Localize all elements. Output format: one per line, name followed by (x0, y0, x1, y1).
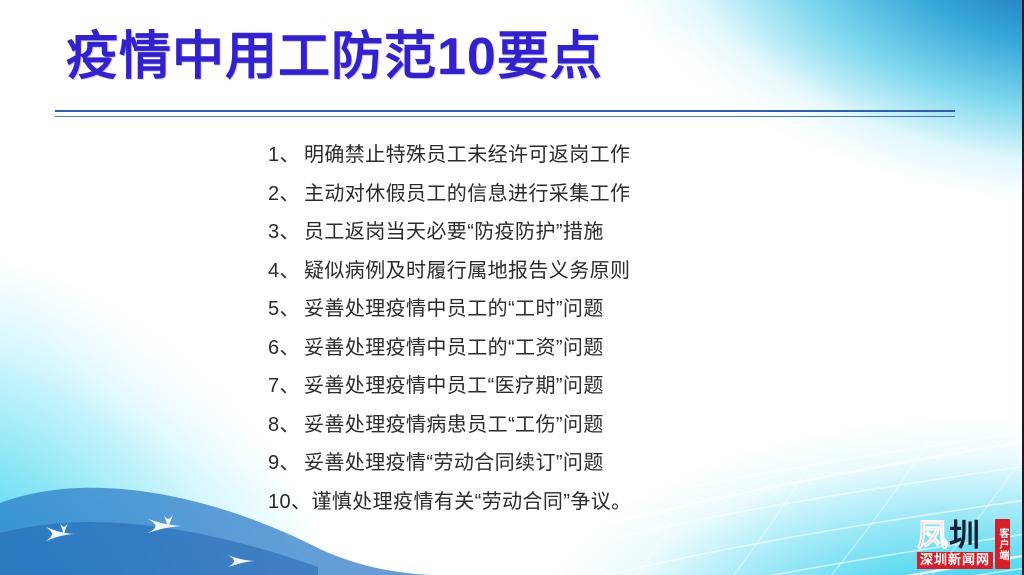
list-item-number: 6、 (268, 329, 304, 368)
list-item-number: 9、 (268, 444, 304, 483)
list-item: 4、 疑似病例及时履行属地报告义务原则 (268, 252, 728, 291)
title-divider (55, 110, 955, 118)
logo-mark-icon: 凤 (917, 520, 948, 551)
list-item-text: 员工返岗当天必要“防疫防护”措施 (304, 213, 604, 252)
logo-main: 凤 圳 深圳新闻网 (917, 519, 993, 569)
logo-wordmark: 凤 圳 (917, 519, 993, 551)
list-item: 7、 妥善处理疫情中员工“医疗期”问题 (268, 367, 728, 406)
list-item: 5、 妥善处理疫情中员工的“工时”问题 (268, 290, 728, 329)
list-item: 8、 妥善处理疫情病患员工“工伤”问题 (268, 406, 728, 445)
list-item-number: 1、 (268, 136, 304, 175)
list-item: 6、 妥善处理疫情中员工的“工资”问题 (268, 329, 728, 368)
logo-app-tab: 客户端 (995, 519, 1010, 569)
presentation-slide: 疫情中用工防范10要点 1、 明确禁止特殊员工未经许可返岗工作 2、 主动对休假… (0, 0, 1024, 575)
list-item: 9、 妥善处理疫情“劳动合同续订”问题 (268, 444, 728, 483)
list-item-text: 妥善处理疫情中员工“医疗期”问题 (304, 367, 604, 406)
list-item-number: 8、 (268, 406, 304, 445)
list-item-text: 妥善处理疫情中员工的“工时”问题 (304, 290, 604, 329)
divider-line-top (55, 110, 955, 112)
divider-line-bottom (55, 116, 955, 117)
list-item-number: 4、 (268, 252, 304, 291)
list-item-text: 妥善处理疫情病患员工“工伤”问题 (304, 406, 604, 445)
page-title: 疫情中用工防范10要点 (66, 29, 603, 86)
list-item-number: 2、 (268, 175, 304, 214)
watermark-logo: 凤 圳 深圳新闻网 客户端 (917, 519, 1010, 569)
list-item-number: 10、 (268, 483, 311, 522)
list-item: 3、 员工返岗当天必要“防疫防护”措施 (268, 213, 728, 252)
points-list: 1、 明确禁止特殊员工未经许可返岗工作 2、 主动对休假员工的信息进行采集工作 … (268, 136, 728, 521)
logo-mark-secondary: 圳 (949, 520, 979, 551)
list-item-text: 主动对休假员工的信息进行采集工作 (304, 175, 630, 214)
list-item-text: 妥善处理疫情“劳动合同续订”问题 (304, 444, 604, 483)
logo-subtitle: 深圳新闻网 (917, 552, 993, 569)
list-item-text: 谨慎处理疫情有关“劳动合同”争议。 (311, 483, 631, 522)
list-item-text: 疑似病例及时履行属地报告义务原则 (304, 252, 630, 291)
list-item-number: 7、 (268, 367, 304, 406)
list-item-number: 5、 (268, 290, 304, 329)
list-item: 1、 明确禁止特殊员工未经许可返岗工作 (268, 136, 728, 175)
list-item-number: 3、 (268, 213, 304, 252)
list-item: 2、 主动对休假员工的信息进行采集工作 (268, 175, 728, 214)
list-item: 10、 谨慎处理疫情有关“劳动合同”争议。 (268, 483, 728, 522)
list-item-text: 妥善处理疫情中员工的“工资”问题 (304, 329, 604, 368)
list-item-text: 明确禁止特殊员工未经许可返岗工作 (304, 136, 630, 175)
